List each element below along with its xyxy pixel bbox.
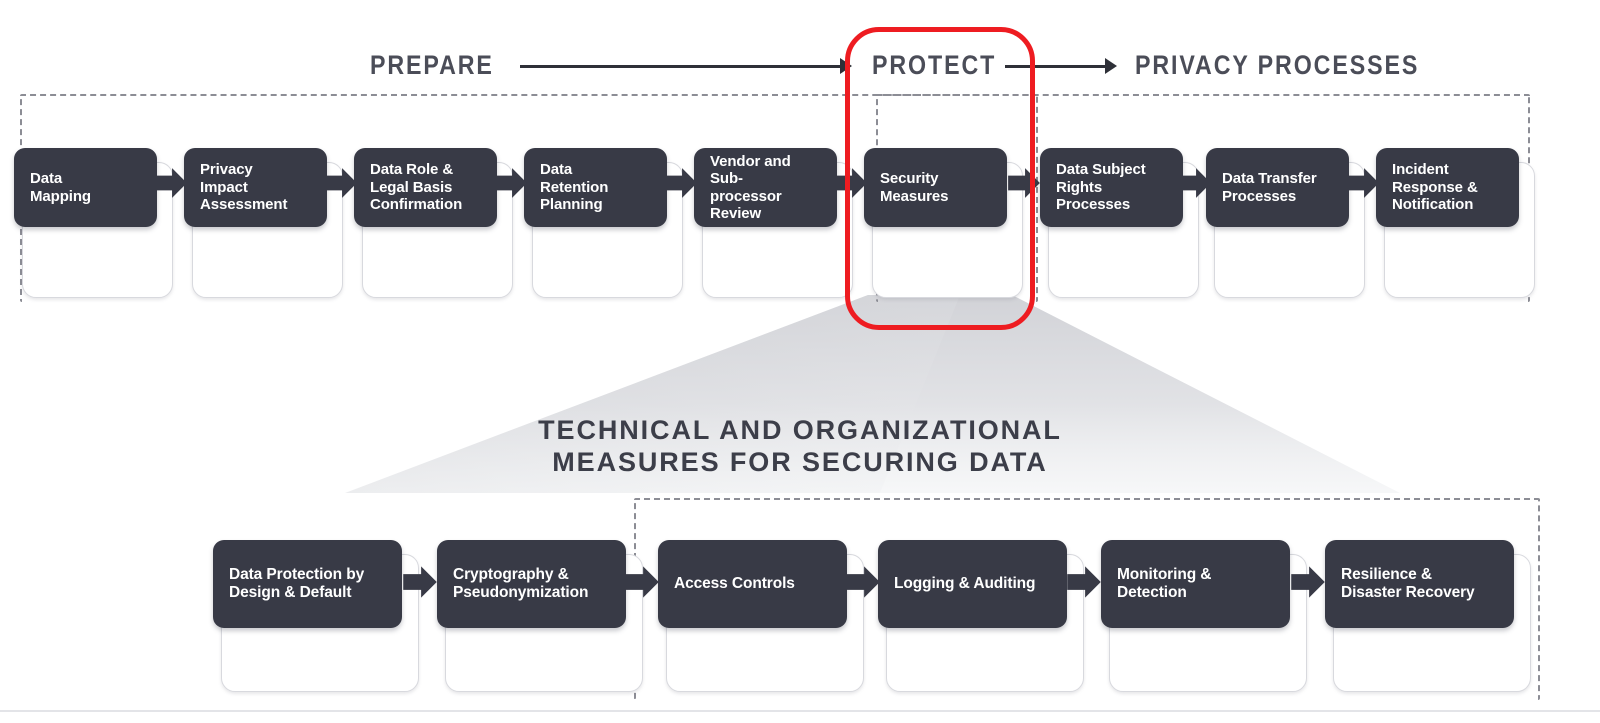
flow-card-data-protection-by-design[interactable]: Data Protection by Design & Default	[213, 540, 419, 692]
card-header-data-retention-planning[interactable]: Data Retention Planning	[524, 148, 667, 227]
card-title-privacy-impact-assessment: Privacy Impact Assessment	[184, 161, 287, 214]
card-header-resilience-disaster-recovery[interactable]: Resilience & Disaster Recovery	[1325, 540, 1514, 628]
connector-arrow-data-transfer-processes-to-incident-response-notification	[1345, 165, 1381, 206]
flow-card-privacy-impact-assessment[interactable]: Privacy Impact Assessment	[184, 148, 343, 298]
card-title-access-controls: Access Controls	[658, 575, 795, 593]
phase-arrowhead-protect	[1105, 58, 1117, 74]
flow-card-data-mapping[interactable]: Data Mapping	[14, 148, 173, 298]
card-header-data-mapping[interactable]: Data Mapping	[14, 148, 157, 227]
flow-card-monitoring-detection[interactable]: Monitoring & Detection	[1101, 540, 1307, 692]
card-header-monitoring-detection[interactable]: Monitoring & Detection	[1101, 540, 1290, 628]
connector-arrow-data-retention-planning-to-vendor-subprocessor-review	[663, 165, 699, 206]
page-bottom-edge	[0, 710, 1600, 712]
card-header-incident-response-notification[interactable]: Incident Response & Notification	[1376, 148, 1519, 227]
funnel-title-line-1: TECHNICAL AND ORGANIZATIONAL	[0, 414, 1600, 446]
card-title-data-protection-by-design: Data Protection by Design & Default	[213, 566, 364, 602]
connector-arrow-data-subject-rights-processes-to-data-transfer-processes	[1177, 165, 1213, 206]
card-title-cryptography-pseudonymization: Cryptography & Pseudonymization	[437, 566, 588, 602]
diagram-canvas: PREPAREPROTECTPRIVACY PROCESSES Data Map…	[0, 0, 1600, 723]
flow-card-data-subject-rights-processes[interactable]: Data Subject Rights Processes	[1040, 148, 1199, 298]
card-title-vendor-subprocessor-review: Vendor and Sub- processor Review	[694, 153, 791, 223]
connector-arrow-logging-auditing-to-monitoring-detection	[1065, 563, 1103, 606]
phase-heading-strip: PREPAREPROTECTPRIVACY PROCESSES	[0, 46, 1600, 86]
card-header-data-protection-by-design[interactable]: Data Protection by Design & Default	[213, 540, 402, 628]
flow-card-vendor-subprocessor-review[interactable]: Vendor and Sub- processor Review	[694, 148, 853, 298]
card-header-privacy-impact-assessment[interactable]: Privacy Impact Assessment	[184, 148, 327, 227]
phase-connector-line-prepare	[520, 65, 840, 68]
card-header-cryptography-pseudonymization[interactable]: Cryptography & Pseudonymization	[437, 540, 626, 628]
card-header-data-subject-rights-processes[interactable]: Data Subject Rights Processes	[1040, 148, 1183, 227]
card-title-data-role-legal-basis: Data Role & Legal Basis Confirmation	[354, 161, 462, 214]
phase-label-privacy: PRIVACY PROCESSES	[1135, 46, 1419, 84]
connector-arrow-privacy-impact-assessment-to-data-role-legal-basis	[323, 165, 359, 206]
protect-highlight-box	[845, 27, 1035, 330]
connector-arrow-data-protection-by-design-to-cryptography-pseudonymization	[401, 563, 439, 606]
card-header-vendor-subprocessor-review[interactable]: Vendor and Sub- processor Review	[694, 148, 837, 227]
connector-arrow-data-role-legal-basis-to-data-retention-planning	[493, 165, 529, 206]
flow-card-data-transfer-processes[interactable]: Data Transfer Processes	[1206, 148, 1365, 298]
funnel-title: TECHNICAL AND ORGANIZATIONAL MEASURES FO…	[0, 414, 1600, 478]
flow-card-incident-response-notification[interactable]: Incident Response & Notification	[1376, 148, 1535, 298]
connector-arrow-data-mapping-to-privacy-impact-assessment	[153, 165, 189, 206]
connector-arrow-monitoring-detection-to-resilience-disaster-recovery	[1289, 563, 1327, 606]
card-title-data-transfer-processes: Data Transfer Processes	[1206, 170, 1317, 205]
phase-label-prepare: PREPARE	[370, 46, 494, 84]
flow-card-data-retention-planning[interactable]: Data Retention Planning	[524, 148, 683, 298]
card-title-monitoring-detection: Monitoring & Detection	[1101, 566, 1211, 602]
flow-card-resilience-disaster-recovery[interactable]: Resilience & Disaster Recovery	[1325, 540, 1531, 692]
card-title-incident-response-notification: Incident Response & Notification	[1376, 161, 1478, 214]
card-title-resilience-disaster-recovery: Resilience & Disaster Recovery	[1325, 566, 1475, 602]
flow-card-access-controls[interactable]: Access Controls	[658, 540, 864, 692]
card-header-access-controls[interactable]: Access Controls	[658, 540, 847, 628]
card-header-logging-auditing[interactable]: Logging & Auditing	[878, 540, 1067, 628]
card-title-data-retention-planning: Data Retention Planning	[524, 161, 608, 214]
funnel-title-line-2: MEASURES FOR SECURING DATA	[0, 446, 1600, 478]
flow-card-cryptography-pseudonymization[interactable]: Cryptography & Pseudonymization	[437, 540, 643, 692]
card-title-data-subject-rights-processes: Data Subject Rights Processes	[1040, 161, 1146, 214]
card-title-data-mapping: Data Mapping	[14, 170, 91, 205]
connector-arrow-access-controls-to-logging-auditing	[844, 563, 882, 606]
flow-card-data-role-legal-basis[interactable]: Data Role & Legal Basis Confirmation	[354, 148, 513, 298]
card-header-data-transfer-processes[interactable]: Data Transfer Processes	[1206, 148, 1349, 227]
card-title-logging-auditing: Logging & Auditing	[878, 575, 1035, 593]
flow-card-logging-auditing[interactable]: Logging & Auditing	[878, 540, 1084, 692]
card-header-data-role-legal-basis[interactable]: Data Role & Legal Basis Confirmation	[354, 148, 497, 227]
connector-arrow-cryptography-pseudonymization-to-access-controls	[623, 563, 661, 606]
